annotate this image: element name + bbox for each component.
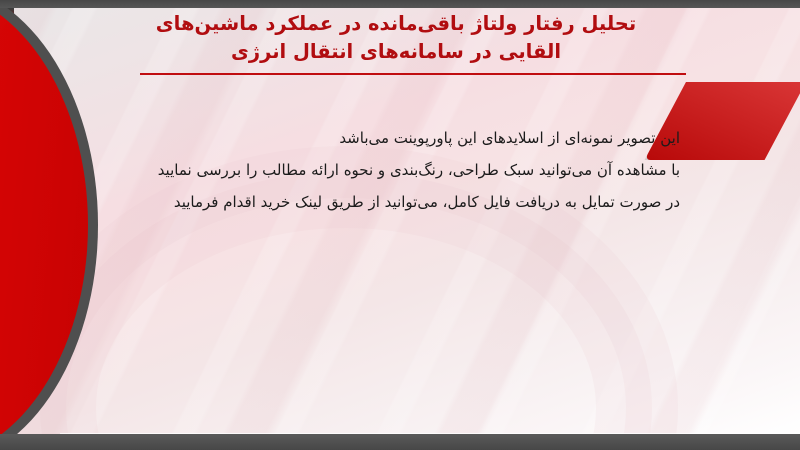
title-underline-divider	[140, 73, 686, 75]
body-line-3: در صورت تمایل به دریافت فایل کامل، می‌تو…	[120, 186, 680, 218]
slide-content-panel	[0, 8, 800, 434]
presentation-slide: تحلیل رفتار ولتاژ باقی‌مانده در عملکرد م…	[0, 0, 800, 450]
slide-title: تحلیل رفتار ولتاژ باقی‌مانده در عملکرد م…	[96, 10, 696, 66]
panel-bottom-hairline	[60, 433, 800, 434]
slide-top-frame-bar	[0, 0, 800, 8]
slide-bottom-frame-bar	[0, 434, 800, 450]
diagonal-streaks-overlay	[0, 8, 800, 434]
slide-title-line-2: القایی در سامانه‌های انتقال انرژی	[96, 38, 696, 66]
slide-title-line-1: تحلیل رفتار ولتاژ باقی‌مانده در عملکرد م…	[96, 10, 696, 38]
body-line-1: این تصویر نمونه‌ای از اسلایدهای این پاور…	[120, 122, 680, 154]
diagonal-pink-streaks-overlay	[0, 8, 800, 434]
body-line-2: با مشاهده آن می‌توانید سبک طراحی، رنگ‌بن…	[120, 154, 680, 186]
slide-body-text: این تصویر نمونه‌ای از اسلایدهای این پاور…	[120, 122, 680, 218]
